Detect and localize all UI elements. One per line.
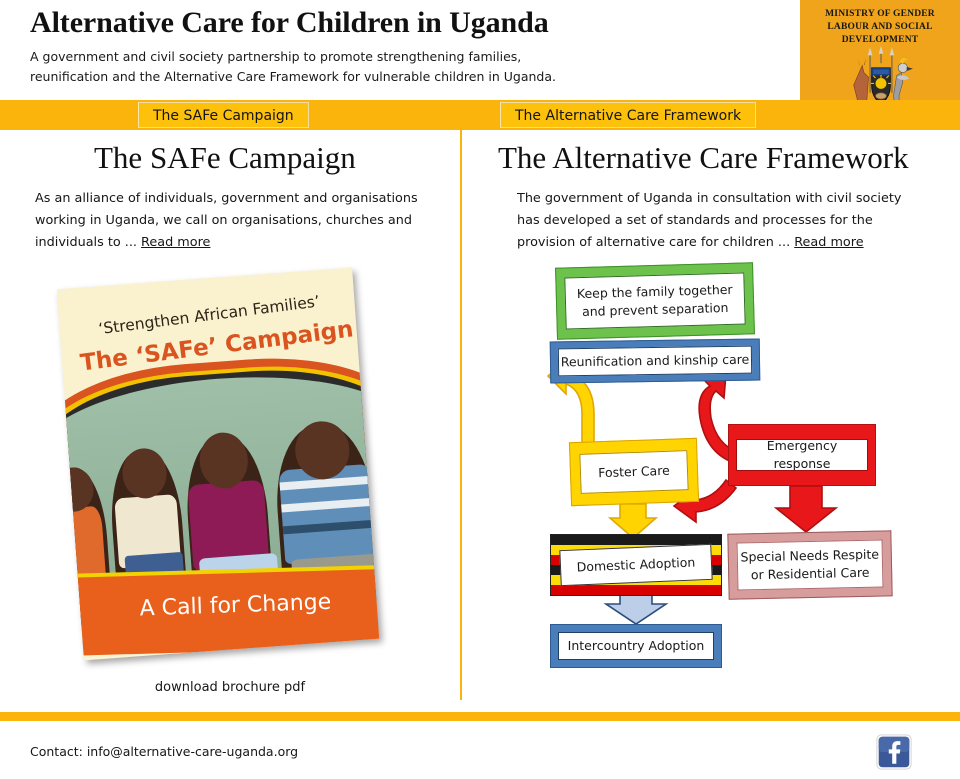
left-read-more-link[interactable]: Read more xyxy=(141,235,210,250)
footer-accent-rule xyxy=(0,712,960,721)
page-tagline: A government and civil society partnersh… xyxy=(30,47,790,88)
flowchart-node-keep-family[interactable]: Keep the family together and prevent sep… xyxy=(555,262,755,340)
left-column-heading: The SAFe Campaign xyxy=(94,140,356,176)
main-navigation: The SAFe Campaign The Alternative Care F… xyxy=(0,100,960,130)
right-column-heading: The Alternative Care Framework xyxy=(498,140,909,176)
flowchart-node-intercountry-adoption[interactable]: Intercountry Adoption xyxy=(550,624,722,668)
page-title: Alternative Care for Children in Uganda xyxy=(30,6,790,41)
ministry-name-line-2: LABOUR AND SOCIAL xyxy=(800,21,960,34)
flowchart-node-reunification[interactable]: Reunification and kinship care xyxy=(550,339,761,384)
ministry-name-line-1: MINISTRY OF GENDER xyxy=(800,8,960,21)
facebook-icon[interactable] xyxy=(876,734,912,770)
tagline-line-1: A government and civil society partnersh… xyxy=(30,47,790,68)
right-column-body: The government of Uganda in consultation… xyxy=(517,188,917,254)
flowchart-node-foster-care-label: Foster Care xyxy=(579,450,688,494)
flowchart-node-intercountry-adoption-label: Intercountry Adoption xyxy=(558,632,714,660)
nav-tab-alternative-care-framework[interactable]: The Alternative Care Framework xyxy=(500,102,756,128)
flowchart-node-reunification-label: Reunification and kinship care xyxy=(558,346,752,377)
flowchart-node-emergency-response[interactable]: Emergency response xyxy=(728,424,876,486)
left-column-text: As an alliance of individuals, governmen… xyxy=(35,191,418,250)
tagline-line-2: reunification and the Alternative Care F… xyxy=(30,67,790,88)
arrow-domestic-to-intercountry xyxy=(606,592,666,624)
flowchart-node-special-needs-label: Special Needs Respite or Residential Car… xyxy=(737,539,884,590)
header-text-block: Alternative Care for Children in Uganda … xyxy=(30,6,790,88)
footer-contact-text: Contact: info@alternative-care-uganda.or… xyxy=(30,744,298,759)
flowchart-node-foster-care[interactable]: Foster Care xyxy=(569,438,699,506)
page-footer: Contact: info@alternative-care-uganda.or… xyxy=(0,721,960,780)
flowchart-node-special-needs[interactable]: Special Needs Respite or Residential Car… xyxy=(727,530,892,599)
left-column-body: As an alliance of individuals, governmen… xyxy=(35,188,435,254)
ministry-name-line-3: DEVELOPMENT xyxy=(800,34,960,47)
brochure-cover: ‘Strengthen African Families’ The ‘SAFe’… xyxy=(57,268,379,661)
nav-tab-safe-campaign[interactable]: The SAFe Campaign xyxy=(138,102,309,128)
flowchart-node-keep-family-label: Keep the family together and prevent sep… xyxy=(564,272,745,329)
download-brochure-link[interactable]: download brochure pdf xyxy=(70,680,390,695)
right-read-more-link[interactable]: Read more xyxy=(794,235,863,250)
brochure-thumbnail[interactable]: ‘Strengthen African Families’ The ‘SAFe’… xyxy=(70,278,390,668)
flowchart-node-domestic-adoption-label: Domestic Adoption xyxy=(559,544,712,586)
flowchart-node-emergency-response-label: Emergency response xyxy=(736,439,868,471)
flowchart-node-domestic-adoption[interactable]: Domestic Adoption xyxy=(550,534,722,596)
alternative-care-flowchart: Keep the family together and prevent sep… xyxy=(470,262,950,682)
arrow-emergency-to-special xyxy=(776,486,836,532)
column-divider xyxy=(460,130,462,700)
arrow-foster-to-domestic xyxy=(610,504,656,538)
ministry-name: MINISTRY OF GENDER LABOUR AND SOCIAL DEV… xyxy=(800,8,960,46)
